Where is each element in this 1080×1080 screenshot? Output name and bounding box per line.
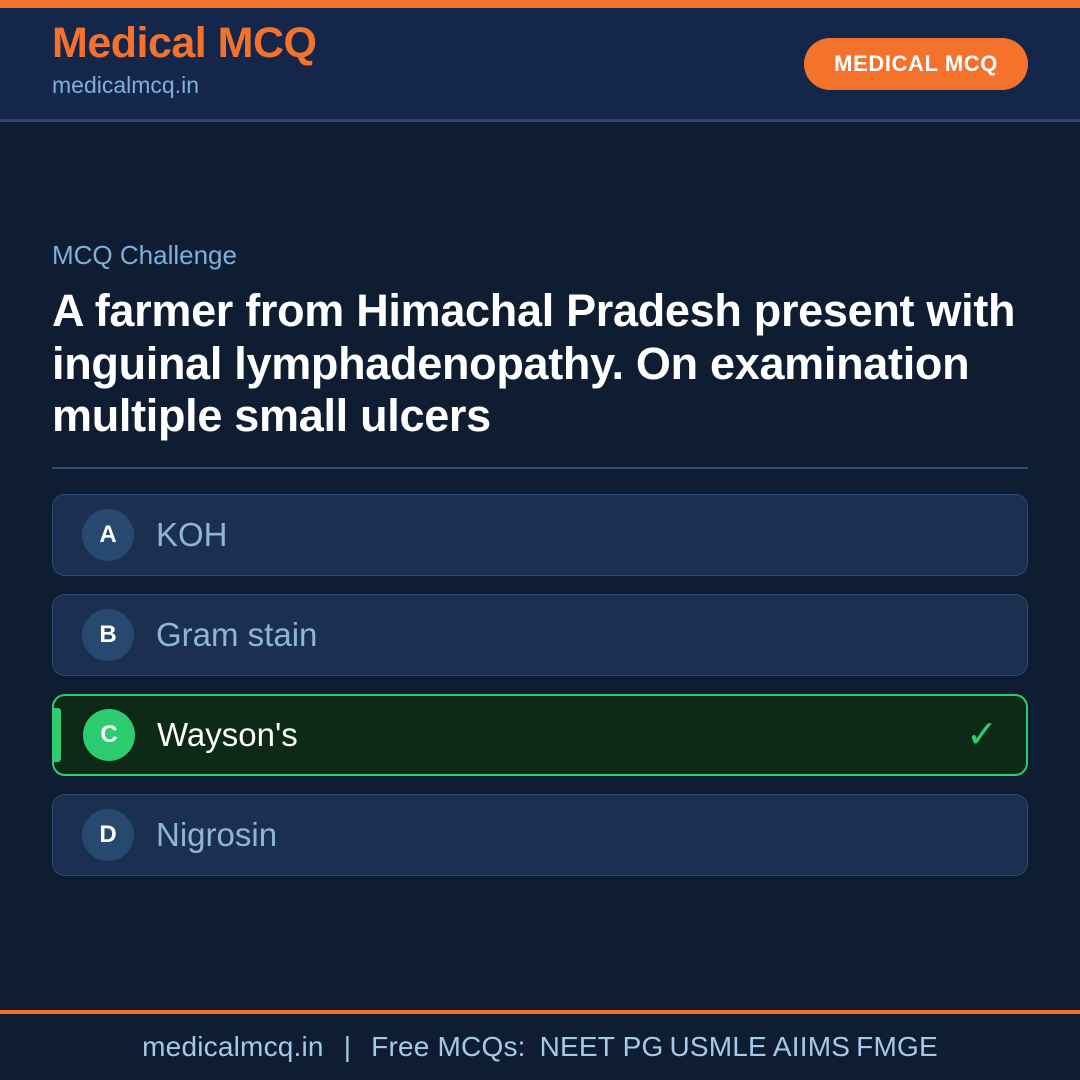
correct-check-icon: ✓ (966, 716, 998, 754)
footer-text: medicalmcq.in | Free MCQs: NEET PGUSMLEA… (142, 1031, 938, 1063)
footer: medicalmcq.in | Free MCQs: NEET PGUSMLEA… (0, 1010, 1080, 1080)
footer-site[interactable]: medicalmcq.in (142, 1031, 324, 1062)
option-letter-badge: A (82, 509, 134, 561)
option-b[interactable]: B Gram stain ✓ (52, 594, 1028, 676)
option-label: Nigrosin (156, 817, 277, 853)
question-block: MCQ Challenge A farmer from Himachal Pra… (52, 240, 1028, 443)
option-d[interactable]: D Nigrosin ✓ (52, 794, 1028, 876)
footer-prefix: Free MCQs: (371, 1031, 525, 1062)
content-area: MCQ Challenge A farmer from Himachal Pra… (0, 122, 1080, 1010)
options-list: A KOH ✓ B Gram stain ✓ C Wayson's ✓ D Ni… (52, 494, 1028, 876)
top-accent-bar (0, 0, 1080, 8)
footer-exam-item[interactable]: FMGE (850, 1031, 938, 1062)
brand-website: medicalmcq.in (52, 68, 317, 103)
footer-exam-item[interactable]: NEET PG (534, 1031, 664, 1062)
option-a[interactable]: A KOH ✓ (52, 494, 1028, 576)
option-label: KOH (156, 517, 228, 553)
question-kicker: MCQ Challenge (52, 240, 1028, 271)
option-letter-badge: D (82, 809, 134, 861)
footer-exam-item[interactable]: USMLE (663, 1031, 766, 1062)
footer-separator: | (332, 1031, 363, 1062)
question-text: A farmer from Himachal Pradesh present w… (52, 285, 1028, 443)
question-divider (52, 467, 1028, 469)
footer-exam-list: NEET PGUSMLEAIIMSFMGE (534, 1031, 938, 1062)
option-letter-badge: B (82, 609, 134, 661)
header-badge: MEDICAL MCQ (804, 38, 1028, 90)
mcq-card: Medical MCQ medicalmcq.in MEDICAL MCQ MC… (0, 0, 1080, 1080)
option-c[interactable]: C Wayson's ✓ (52, 694, 1028, 776)
footer-exam-item[interactable]: AIIMS (767, 1031, 850, 1062)
option-label: Gram stain (156, 617, 317, 653)
brand-block: Medical MCQ medicalmcq.in (52, 21, 317, 103)
option-label: Wayson's (157, 717, 298, 753)
brand-title: Medical MCQ (52, 21, 317, 66)
selected-accent-bar (54, 708, 61, 762)
header: Medical MCQ medicalmcq.in MEDICAL MCQ (0, 8, 1080, 122)
option-letter-badge: C (83, 709, 135, 761)
